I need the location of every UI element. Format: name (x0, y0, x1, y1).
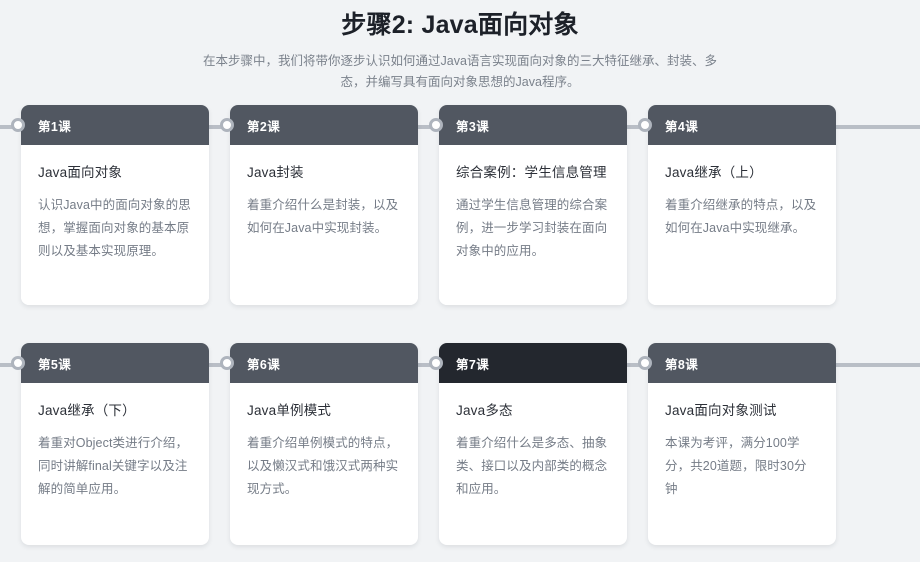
lesson-title: Java继承（上） (665, 163, 819, 183)
lesson-title: Java继承（下） (38, 401, 192, 421)
roadmap-row: 第5课 Java继承（下） 着重对Object类进行介绍，同时讲解final关键… (0, 343, 920, 562)
connector-node-icon (638, 356, 652, 370)
lesson-card-header: 第8课 (648, 343, 836, 383)
lesson-card-body: Java封装 着重介绍什么是封装，以及如何在Java中实现封装。 (230, 145, 418, 305)
lesson-title: Java面向对象 (38, 163, 192, 183)
lesson-description: 着重介绍继承的特点，以及如何在Java中实现继承。 (665, 194, 819, 240)
lesson-card-body: Java继承（下） 着重对Object类进行介绍，同时讲解final关键字以及注… (21, 383, 209, 543)
lesson-card-header: 第3课 (439, 105, 627, 145)
lesson-card[interactable]: 第8课 Java面向对象测试 本课为考评，满分100学分，共20道题，限时30分… (648, 343, 836, 545)
connector-node-icon (220, 118, 234, 132)
lesson-card[interactable]: 第1课 Java面向对象 认识Java中的面向对象的思想，掌握面向对象的基本原则… (21, 105, 209, 305)
lesson-description: 着重介绍什么是封装，以及如何在Java中实现封装。 (247, 194, 401, 240)
lesson-badge: 第2课 (247, 116, 280, 135)
lesson-badge: 第1课 (38, 116, 71, 135)
lesson-badge: 第4课 (665, 116, 698, 135)
lesson-description: 着重介绍单例模式的特点，以及懒汉式和饿汉式两种实现方式。 (247, 432, 401, 501)
lesson-title: Java多态 (456, 401, 610, 421)
lesson-card-body: Java面向对象测试 本课为考评，满分100学分，共20道题，限时30分钟 (648, 383, 836, 543)
lesson-badge: 第3课 (456, 116, 489, 135)
lesson-card-body: Java面向对象 认识Java中的面向对象的思想，掌握面向对象的基本原则以及基本… (21, 145, 209, 305)
lesson-description: 认识Java中的面向对象的思想，掌握面向对象的基本原则以及基本实现原理。 (38, 194, 192, 263)
lesson-card[interactable]: 第7课 Java多态 着重介绍什么是多态、抽象类、接口以及内部类的概念和应用。 (439, 343, 627, 545)
lesson-badge: 第7课 (456, 354, 489, 373)
lesson-card[interactable]: 第3课 综合案例：学生信息管理 通过学生信息管理的综合案例，进一步学习封装在面向… (439, 105, 627, 305)
lesson-card-body: Java多态 着重介绍什么是多态、抽象类、接口以及内部类的概念和应用。 (439, 383, 627, 543)
page-subtitle: 在本步骤中，我们将带你逐步认识如何通过Java语言实现面向对象的三大特征继承、封… (195, 51, 725, 93)
lesson-card-header: 第1课 (21, 105, 209, 145)
lesson-title: 综合案例：学生信息管理 (456, 163, 610, 183)
lesson-title: Java封装 (247, 163, 401, 183)
lesson-description: 通过学生信息管理的综合案例，进一步学习封装在面向对象中的应用。 (456, 194, 610, 263)
lesson-card-header: 第5课 (21, 343, 209, 383)
page-title: 步骤2: Java面向对象 (0, 8, 920, 42)
lesson-title: Java单例模式 (247, 401, 401, 421)
lesson-card[interactable]: 第2课 Java封装 着重介绍什么是封装，以及如何在Java中实现封装。 (230, 105, 418, 305)
connector-node-icon (429, 118, 443, 132)
connector-node-icon (220, 356, 234, 370)
page-header: 步骤2: Java面向对象 在本步骤中，我们将带你逐步认识如何通过Java语言实… (0, 0, 920, 93)
lesson-card-header: 第6课 (230, 343, 418, 383)
lesson-card[interactable]: 第4课 Java继承（上） 着重介绍继承的特点，以及如何在Java中实现继承。 (648, 105, 836, 305)
lesson-card[interactable]: 第5课 Java继承（下） 着重对Object类进行介绍，同时讲解final关键… (21, 343, 209, 545)
lesson-description: 着重对Object类进行介绍，同时讲解final关键字以及注解的简单应用。 (38, 432, 192, 501)
connector-node-icon (11, 118, 25, 132)
lesson-badge: 第5课 (38, 354, 71, 373)
connector-node-icon (429, 356, 443, 370)
lesson-card-body: 综合案例：学生信息管理 通过学生信息管理的综合案例，进一步学习封装在面向对象中的… (439, 145, 627, 305)
lesson-card[interactable]: 第6课 Java单例模式 着重介绍单例模式的特点，以及懒汉式和饿汉式两种实现方式… (230, 343, 418, 545)
lesson-card-header: 第7课 (439, 343, 627, 383)
lesson-description: 着重介绍什么是多态、抽象类、接口以及内部类的概念和应用。 (456, 432, 610, 501)
lesson-card-header: 第2课 (230, 105, 418, 145)
connector-node-icon (638, 118, 652, 132)
lesson-card-header: 第4课 (648, 105, 836, 145)
course-roadmap: 第1课 Java面向对象 认识Java中的面向对象的思想，掌握面向对象的基本原则… (0, 105, 920, 562)
lesson-badge: 第8课 (665, 354, 698, 373)
roadmap-row: 第1课 Java面向对象 认识Java中的面向对象的思想，掌握面向对象的基本原则… (0, 105, 920, 343)
lesson-description: 本课为考评，满分100学分，共20道题，限时30分钟 (665, 432, 819, 501)
connector-node-icon (11, 356, 25, 370)
lesson-badge: 第6课 (247, 354, 280, 373)
lesson-title: Java面向对象测试 (665, 401, 819, 421)
lesson-card-body: Java继承（上） 着重介绍继承的特点，以及如何在Java中实现继承。 (648, 145, 836, 305)
lesson-card-body: Java单例模式 着重介绍单例模式的特点，以及懒汉式和饿汉式两种实现方式。 (230, 383, 418, 543)
